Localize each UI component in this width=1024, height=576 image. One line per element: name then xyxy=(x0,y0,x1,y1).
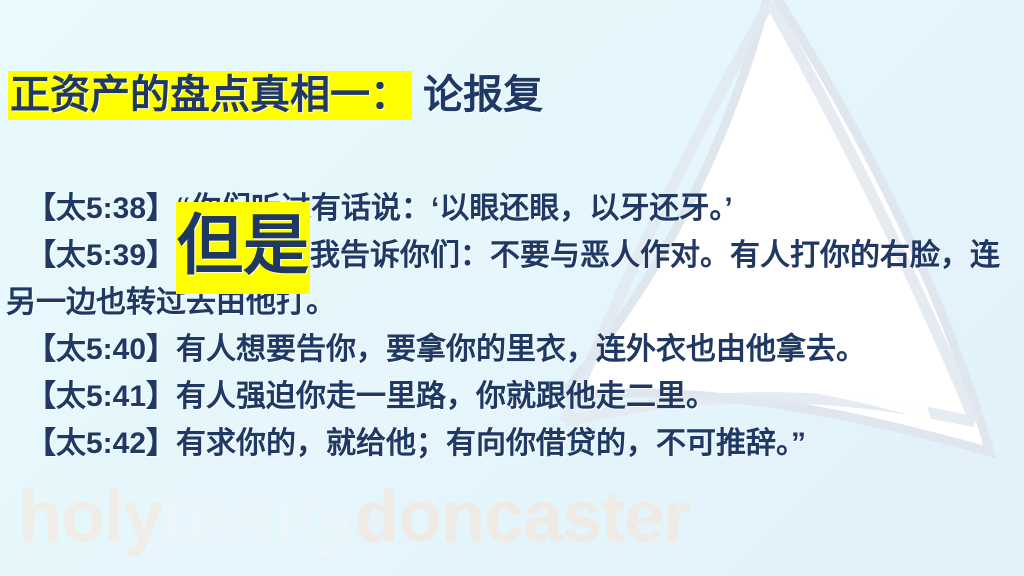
verse-line-39: 【太5:39】但是我告诉你们：不要与恶人作对。有人打你的右脸，连另一边也转过去由… xyxy=(6,232,1018,326)
verse-line-42: 【太5:42】有求你的，就给他；有向你借贷的，不可推辞。” xyxy=(6,420,1018,467)
slide-title: 正资产的盘点真相一： 论报复 xyxy=(8,72,543,119)
verse-text-42: 有求你的，就给他；有向你借贷的，不可推辞。” xyxy=(176,427,806,460)
verse-line-41: 【太5:41】有人强迫你走一里路，你就跟他走二里。 xyxy=(6,373,1018,420)
verse-reference-39: 【太5:39】 xyxy=(26,239,176,272)
verse-line-40: 【太5:40】有人想要告你，要拿你的里衣，连外衣也由他拿去。 xyxy=(6,326,1018,373)
verse-reference-42: 【太5:42】 xyxy=(26,427,176,460)
verse-reference-38: 【太5:38】 xyxy=(26,192,176,225)
scripture-body: 【太5:38】“你们听过有话说：‘以眼还眼，以牙还牙。’ 【太5:39】但是我告… xyxy=(6,185,1018,467)
slide-content: 正资产的盘点真相一： 论报复 【太5:38】“你们听过有话说：‘以眼还眼，以牙还… xyxy=(0,0,1024,576)
verse-text-40: 有人想要告你，要拿你的里衣，连外衣也由他拿去。 xyxy=(176,333,866,366)
title-highlighted-text: 正资产的盘点真相一： xyxy=(8,71,412,120)
title-plain-text: 论报复 xyxy=(412,73,543,117)
verse-reference-40: 【太5:40】 xyxy=(26,333,176,366)
verse-reference-41: 【太5:41】 xyxy=(26,380,176,413)
verse-text-41: 有人强迫你走一里路，你就跟他走二里。 xyxy=(176,380,716,413)
verse-line-38: 【太5:38】“你们听过有话说：‘以眼还眼，以牙还牙。’ xyxy=(6,185,1018,232)
presentation-slide: holytrinitydoncaster 正资产的盘点真相一： 论报复 【太5:… xyxy=(0,0,1024,576)
verse-emphasis-39: 但是 xyxy=(176,202,310,294)
